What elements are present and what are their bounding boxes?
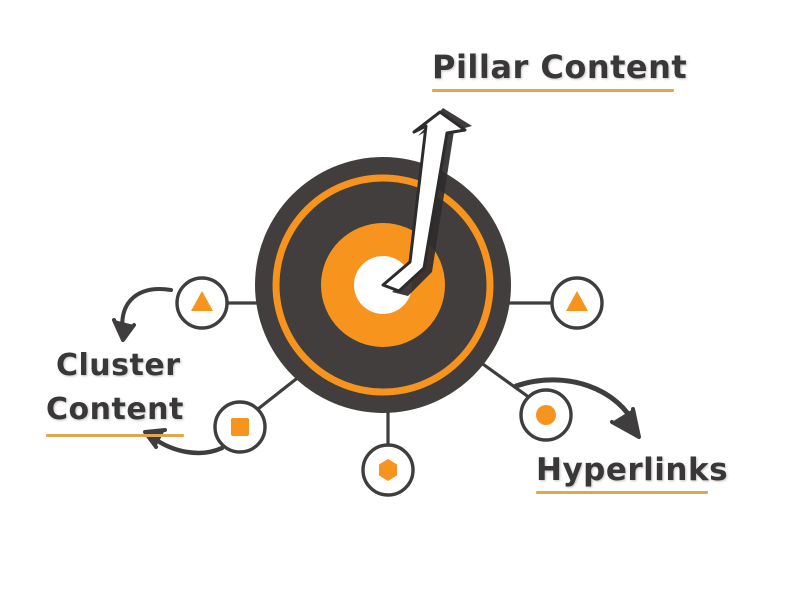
label-pillar-content-underline (432, 89, 674, 92)
label-pillar-content: Pillar Content (432, 48, 687, 92)
node-right-triangle[interactable] (552, 278, 602, 328)
label-cluster-content: Cluster Content (46, 344, 184, 437)
label-hyperlinks: Hyperlinks (536, 452, 728, 494)
label-pillar-content-text: Pillar Content (432, 48, 687, 86)
curve-arrow-to-cluster (114, 289, 171, 340)
label-cluster-content-underline (46, 434, 184, 437)
label-hyperlinks-text: Hyperlinks (536, 452, 728, 488)
label-cluster-line-2: Content (46, 388, 184, 432)
node-bottomright-circle[interactable] (521, 390, 571, 440)
node-bottom-hexagon[interactable] (363, 445, 413, 495)
square-icon (231, 418, 249, 436)
node-left-triangle[interactable] (177, 278, 227, 328)
diagram-canvas: Pillar Content Cluster Content Hyperlink… (0, 0, 800, 600)
node-bottomleft-square[interactable] (215, 402, 265, 452)
curve-arrow-to-content-path (152, 437, 222, 453)
curve-arrow-to-cluster-head (114, 320, 134, 340)
circle-dot-icon (536, 405, 556, 425)
label-cluster-line-1: Cluster (46, 344, 184, 388)
label-hyperlinks-underline (536, 491, 708, 494)
connector-bottomright (480, 362, 530, 398)
